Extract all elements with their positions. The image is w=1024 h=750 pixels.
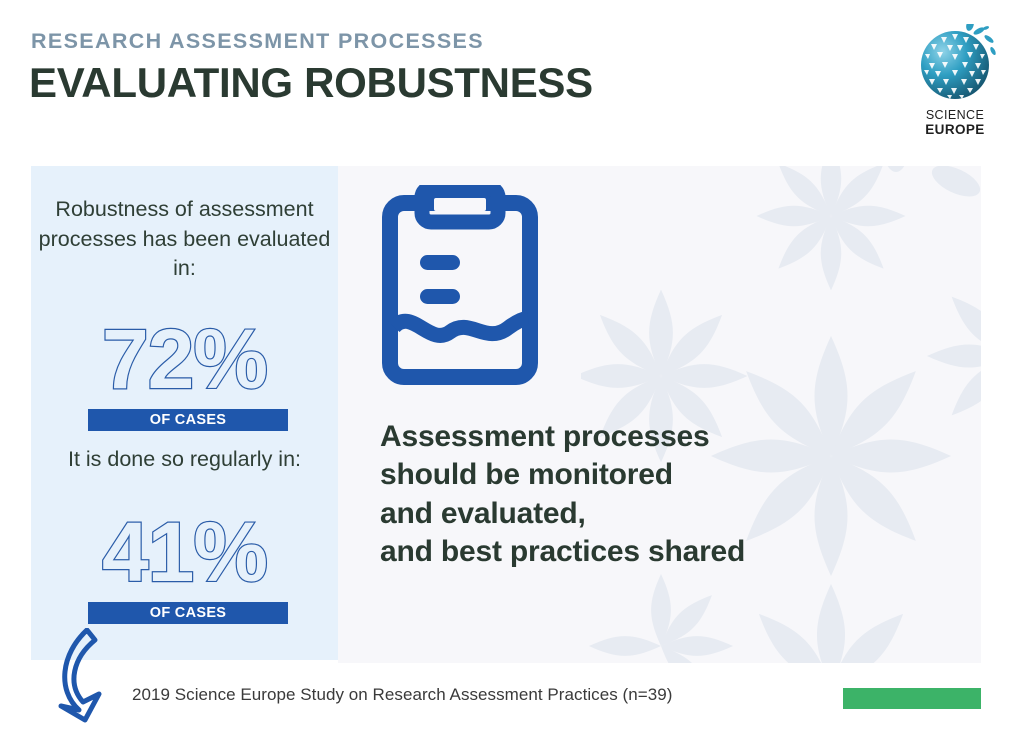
stat-badge-1: OF CASES bbox=[88, 409, 288, 431]
stat-caption-1: Robustness of assessment processes has b… bbox=[31, 195, 338, 284]
logo-line-1: SCIENCE bbox=[905, 108, 1005, 122]
science-europe-sphere-icon bbox=[905, 24, 1005, 108]
message-panel: Assessment processes should be monitored… bbox=[338, 166, 981, 663]
source-footnote: 2019 Science Europe Study on Research As… bbox=[132, 686, 672, 703]
science-europe-logo: SCIENCE EUROPE bbox=[905, 24, 1005, 144]
statistics-panel: Robustness of assessment processes has b… bbox=[31, 166, 338, 660]
logo-wordmark: SCIENCE EUROPE bbox=[905, 108, 1005, 137]
stat-value-2: 41% bbox=[31, 510, 338, 594]
stat-badge-2: OF CASES bbox=[88, 602, 288, 624]
stat-caption-2: It is done so regularly in: bbox=[31, 445, 338, 475]
accent-bar bbox=[843, 688, 981, 709]
clipboard-icon bbox=[382, 185, 538, 385]
curved-down-arrow-icon bbox=[55, 628, 135, 723]
key-message-statement: Assessment processes should be monitored… bbox=[380, 418, 940, 572]
header-eyebrow: RESEARCH ASSESSMENT PROCESSES bbox=[31, 31, 484, 53]
floral-starburst-watermark-icon bbox=[581, 166, 981, 663]
stat-value-1: 72% bbox=[31, 317, 338, 401]
infographic-page: RESEARCH ASSESSMENT PROCESSES EVALUATING… bbox=[0, 0, 1024, 750]
logo-line-2: EUROPE bbox=[905, 122, 1005, 137]
page-title: EVALUATING ROBUSTNESS bbox=[29, 61, 593, 105]
